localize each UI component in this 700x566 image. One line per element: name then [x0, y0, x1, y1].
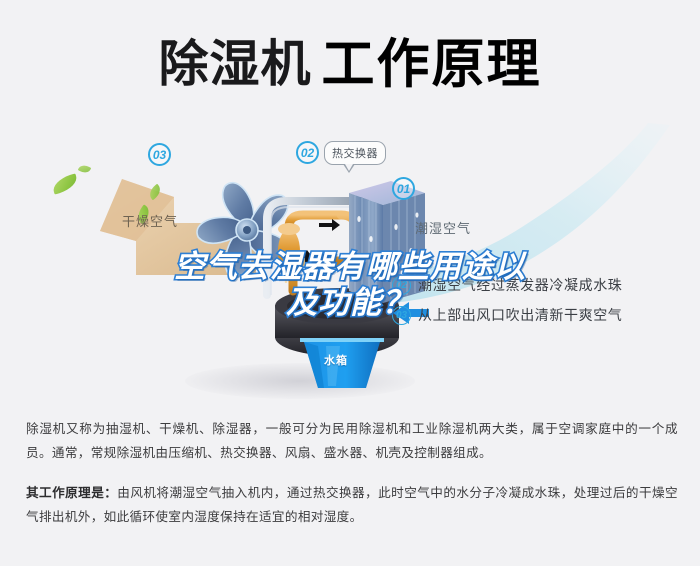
step-text: 潮湿空气经过蒸发器冷凝成水珠: [418, 275, 622, 295]
water-tank-label: 水箱: [324, 352, 348, 368]
process-step-list: 02 潮湿空气经过蒸发器冷凝成水珠 03 从上部出风口吹出清新干爽空气: [392, 270, 692, 330]
humid-air-label: 潮湿空气: [415, 218, 471, 237]
dehumidifier-diagram: 水箱 03 02 01 热交换器 干燥空气 潮湿空气: [0, 115, 700, 400]
diagram-badge-01: 01: [392, 177, 415, 200]
step-number: 03: [392, 306, 411, 325]
page-title-primary: 除湿机: [159, 36, 312, 92]
paragraph-2-lead: 其工作原理是：: [26, 486, 117, 500]
dry-air-label: 干燥空气: [122, 211, 178, 230]
step-number: 02: [392, 276, 411, 295]
page-title-secondary: 工作原理: [322, 35, 542, 94]
step-text: 从上部出风口吹出清新干爽空气: [418, 305, 622, 325]
list-item: 03 从上部出风口吹出清新干爽空气: [392, 300, 692, 330]
diagram-badge-03: 03: [148, 143, 171, 166]
heat-exchanger-callout: 热交换器: [324, 141, 386, 165]
page-root: 除湿机工作原理: [0, 0, 700, 566]
article-body: 除湿机又称为抽湿机、干燥机、除湿器，一般可分为民用除湿机和工业除湿机两大类，属于…: [26, 417, 678, 529]
page-title: 除湿机工作原理: [0, 22, 700, 98]
diagram-badge-02: 02: [296, 141, 319, 164]
leaf-icon: [50, 173, 79, 194]
paragraph-2: 其工作原理是：由风机将潮湿空气抽入机内，通过热交换器，此时空气中的水分子冷凝成水…: [26, 481, 678, 529]
paragraph-2-rest: 由风机将潮湿空气抽入机内，通过热交换器，此时空气中的水分子冷凝成水珠，处理过后的…: [26, 486, 678, 524]
list-item: 02 潮湿空气经过蒸发器冷凝成水珠: [392, 270, 692, 300]
paragraph-1: 除湿机又称为抽湿机、干燥机、除湿器，一般可分为民用除湿机和工业除湿机两大类，属于…: [26, 417, 678, 465]
